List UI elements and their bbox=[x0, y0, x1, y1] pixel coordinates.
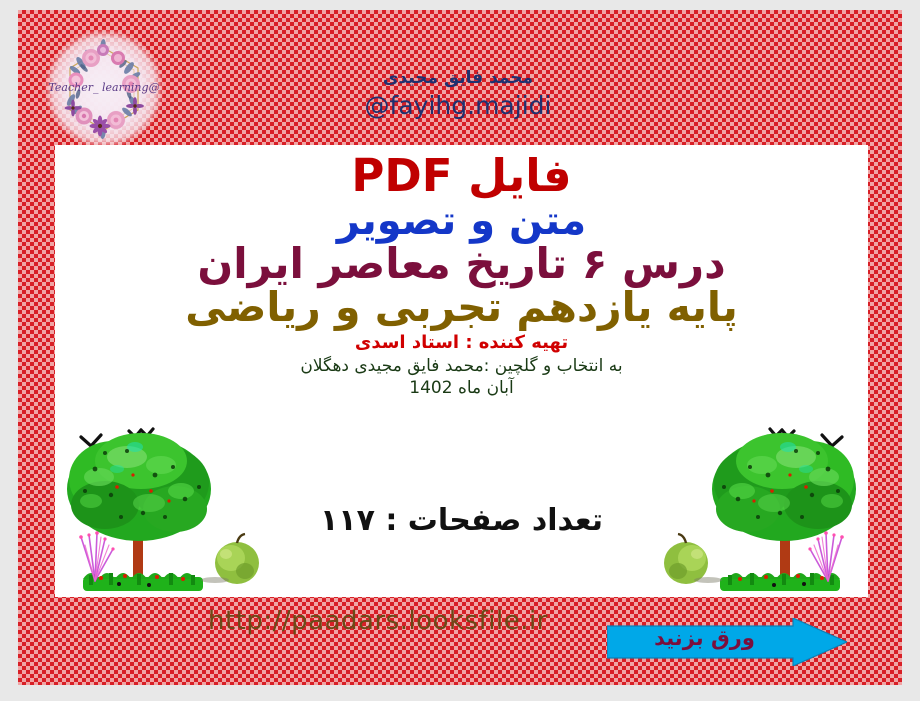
next-page-button[interactable] bbox=[607, 618, 847, 666]
logo-inner-text: @Teacher_ learning bbox=[48, 81, 159, 94]
right-arrow-icon bbox=[607, 618, 847, 666]
title-block: فایل PDF متن و تصویر درس ۶ تاریخ معاصر ا… bbox=[55, 153, 868, 399]
title-line-text-and-image: متن و تصویر bbox=[55, 201, 868, 242]
title-line-pdf-file: فایل PDF bbox=[55, 153, 868, 199]
presentation-slide: @Teacher_ learning محمد فایق مجیدی @fayi… bbox=[18, 10, 902, 685]
author-handle: @fayihg.majidi bbox=[318, 91, 598, 121]
credit-author: تهیه کننده : استاد اسدی bbox=[55, 332, 868, 355]
apple-icon bbox=[201, 534, 259, 584]
content-card: فایل PDF متن و تصویر درس ۶ تاریخ معاصر ا… bbox=[55, 145, 868, 597]
credit-curator: به انتخاب و گلچین :محمد فایق مجیدی دهگلا… bbox=[55, 355, 868, 377]
floral-wreath-logo: @Teacher_ learning bbox=[43, 28, 165, 150]
credit-date: آبان ماه 1402 bbox=[55, 377, 868, 399]
page-count-label: تعداد صفحات : ۱۱۷ bbox=[55, 503, 868, 538]
website-url[interactable]: http://paadars.looksfile.ir bbox=[208, 606, 548, 636]
screenshot-root: @Teacher_ learning محمد فایق مجیدی @fayi… bbox=[0, 0, 920, 701]
author-name: محمد فایق مجیدی bbox=[318, 68, 598, 89]
title-line-grade: پایه یازدهم تجربی و ریاضی bbox=[55, 287, 868, 329]
apple-icon bbox=[664, 534, 722, 584]
title-line-lesson: درس ۶ تاریخ معاصر ایران bbox=[55, 243, 868, 286]
author-handle-block: محمد فایق مجیدی @fayihg.majidi bbox=[318, 68, 598, 121]
